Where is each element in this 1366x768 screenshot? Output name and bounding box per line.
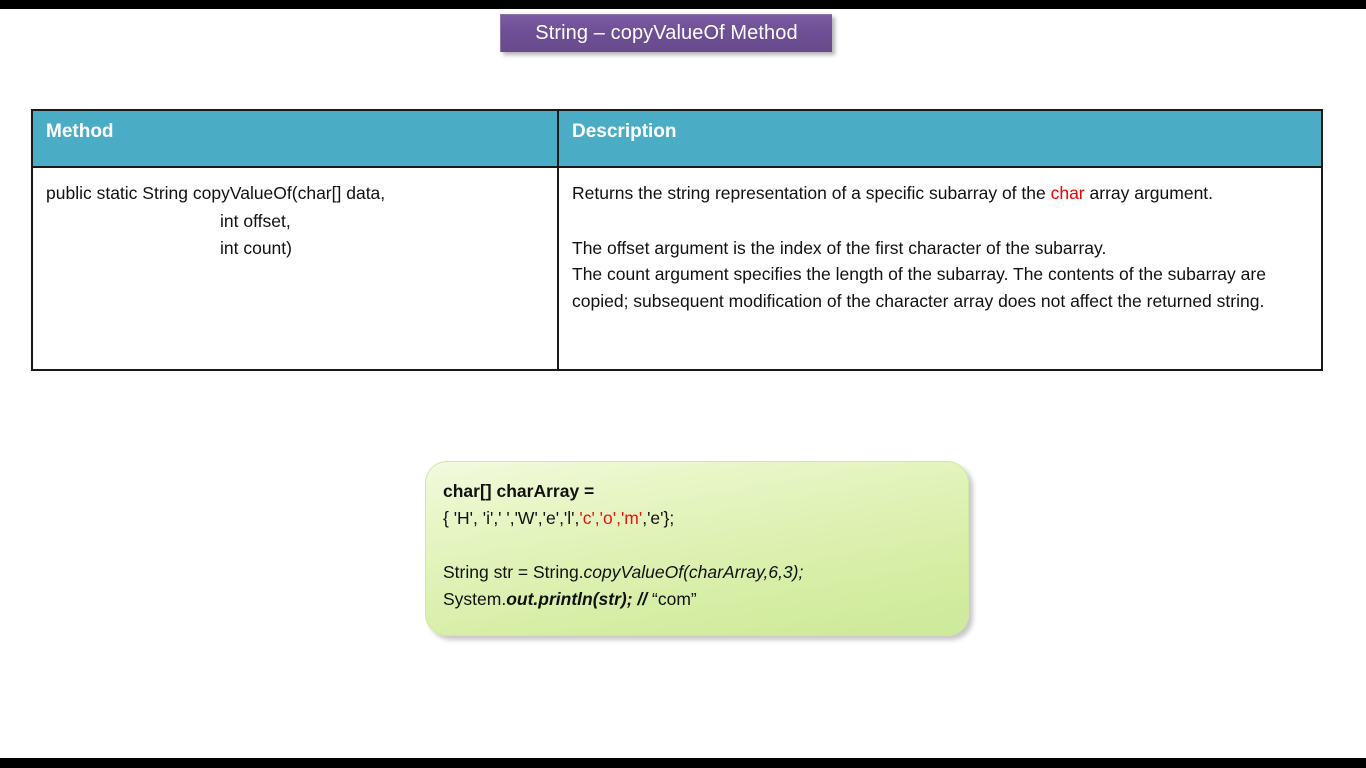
method-signature-line-3: int count) xyxy=(46,235,545,263)
description-keyword-char: char xyxy=(1051,183,1085,203)
code-copyvalueof-call: copyValueOf(charArray,6,3); xyxy=(584,562,804,582)
code-copyvalueof-assign: String str = String. xyxy=(443,562,584,582)
description-paragraph-2-line-1: The offset argument is the index of the … xyxy=(572,235,1309,262)
code-line-declaration: char[] charArray = xyxy=(443,478,968,505)
description-p1-before: Returns the string representation of a s… xyxy=(572,183,1051,203)
method-reference-table: Method Description public static String … xyxy=(31,109,1323,371)
code-blank-line xyxy=(443,532,968,559)
code-line-array-literal: { 'H', 'i',' ','W','e','l','c','o','m','… xyxy=(443,505,968,532)
description-paragraph-2-line-2: The count argument specifies the length … xyxy=(572,261,1309,314)
letterbox-bar-bottom xyxy=(0,758,1366,768)
code-line-copyvalueof: String str = String.copyValueOf(charArra… xyxy=(443,559,968,586)
code-array-prefix: { 'H', 'i',' ','W','e','l', xyxy=(443,508,579,528)
description-p1-after: array argument. xyxy=(1085,183,1213,203)
method-signature-line-2: int offset, xyxy=(46,208,545,236)
table-header-description: Description xyxy=(558,110,1322,167)
code-array-suffix: ,'e'}; xyxy=(642,508,674,528)
page-title: String – copyValueOf Method xyxy=(535,22,797,45)
table-header-method-label: Method xyxy=(46,121,114,142)
description-spacer xyxy=(572,207,1309,235)
code-println-output-comment: “com” xyxy=(652,589,697,609)
code-println-system: System. xyxy=(443,589,506,609)
code-line-println: System.out.println(str); // “com” xyxy=(443,586,968,613)
description-paragraph-1: Returns the string representation of a s… xyxy=(572,180,1309,207)
method-description-cell: Returns the string representation of a s… xyxy=(558,167,1322,370)
table-header-method: Method xyxy=(32,110,558,167)
table-header-description-label: Description xyxy=(572,121,677,142)
code-println-call: out.println(str); // xyxy=(506,589,652,609)
code-array-highlight: 'c','o','m' xyxy=(579,508,642,528)
code-example-callout: char[] charArray = { 'H', 'i',' ','W','e… xyxy=(425,461,969,636)
slide-title-banner: String – copyValueOf Method xyxy=(500,14,832,52)
method-signature-cell: public static String copyValueOf(char[] … xyxy=(32,167,558,370)
letterbox-bar-top xyxy=(0,0,1366,9)
method-signature-line-1: public static String copyValueOf(char[] … xyxy=(46,180,545,208)
slide-canvas: String – copyValueOf Method Method Descr… xyxy=(0,0,1366,768)
table-header-row: Method Description xyxy=(32,110,1322,167)
table-row: public static String copyValueOf(char[] … xyxy=(32,167,1322,370)
